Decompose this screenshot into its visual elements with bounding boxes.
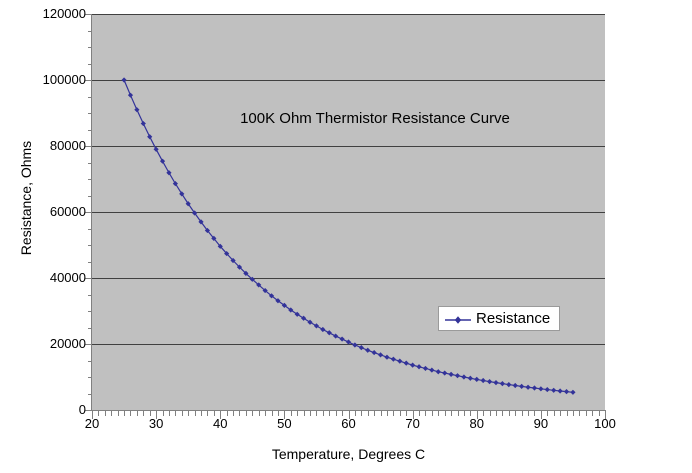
x-tick-label: 60 <box>319 416 379 431</box>
y-axis-tick-labels: 020000400006000080000100000120000 <box>0 14 86 410</box>
y-tick-label: 120000 <box>6 6 86 21</box>
y-tick-mark <box>88 196 92 197</box>
plot-area <box>92 14 605 410</box>
y-tick-mark <box>85 80 92 81</box>
y-tick-mark <box>88 47 92 48</box>
x-tick-label: 20 <box>62 416 122 431</box>
y-tick-mark <box>88 179 92 180</box>
x-axis-tick-labels: 2030405060708090100 <box>92 416 605 436</box>
y-tick-mark <box>88 163 92 164</box>
y-tick-mark <box>88 97 92 98</box>
legend-label-resistance: Resistance <box>476 310 550 327</box>
y-axis-title: Resistance, Ohms <box>18 78 34 318</box>
x-tick-label: 50 <box>254 416 314 431</box>
y-tick-mark <box>88 31 92 32</box>
y-tick-label: 0 <box>6 402 86 417</box>
legend: Resistance <box>438 306 560 331</box>
y-tick-mark <box>85 212 92 213</box>
y-tick-mark <box>88 311 92 312</box>
x-tick-label: 70 <box>383 416 443 431</box>
y-tick-mark <box>88 377 92 378</box>
series-resistance <box>92 14 605 410</box>
y-tick-mark <box>85 410 92 411</box>
y-tick-mark <box>88 394 92 395</box>
y-axis-tick-marks <box>85 14 92 411</box>
y-tick-mark <box>88 130 92 131</box>
y-tick-mark <box>88 361 92 362</box>
y-tick-mark <box>85 278 92 279</box>
y-tick-mark <box>85 14 92 15</box>
y-tick-mark <box>88 245 92 246</box>
diamond-line-marker-icon <box>445 313 471 325</box>
x-tick-label: 40 <box>190 416 250 431</box>
chart-figure: 020000400006000080000100000120000 203040… <box>0 0 692 473</box>
y-tick-mark <box>88 295 92 296</box>
x-tick-label: 30 <box>126 416 186 431</box>
y-tick-label: 20000 <box>6 336 86 351</box>
x-tick-label: 90 <box>511 416 571 431</box>
chart-title: 100K Ohm Thermistor Resistance Curve <box>180 110 570 127</box>
x-axis-title: Temperature, Degrees C <box>92 446 605 462</box>
y-tick-mark <box>88 113 92 114</box>
y-tick-mark <box>88 328 92 329</box>
y-tick-mark <box>88 229 92 230</box>
x-tick-label: 100 <box>575 416 635 431</box>
y-tick-mark <box>85 146 92 147</box>
y-tick-mark <box>88 64 92 65</box>
y-tick-mark <box>85 344 92 345</box>
y-tick-mark <box>88 262 92 263</box>
x-tick-label: 80 <box>447 416 507 431</box>
